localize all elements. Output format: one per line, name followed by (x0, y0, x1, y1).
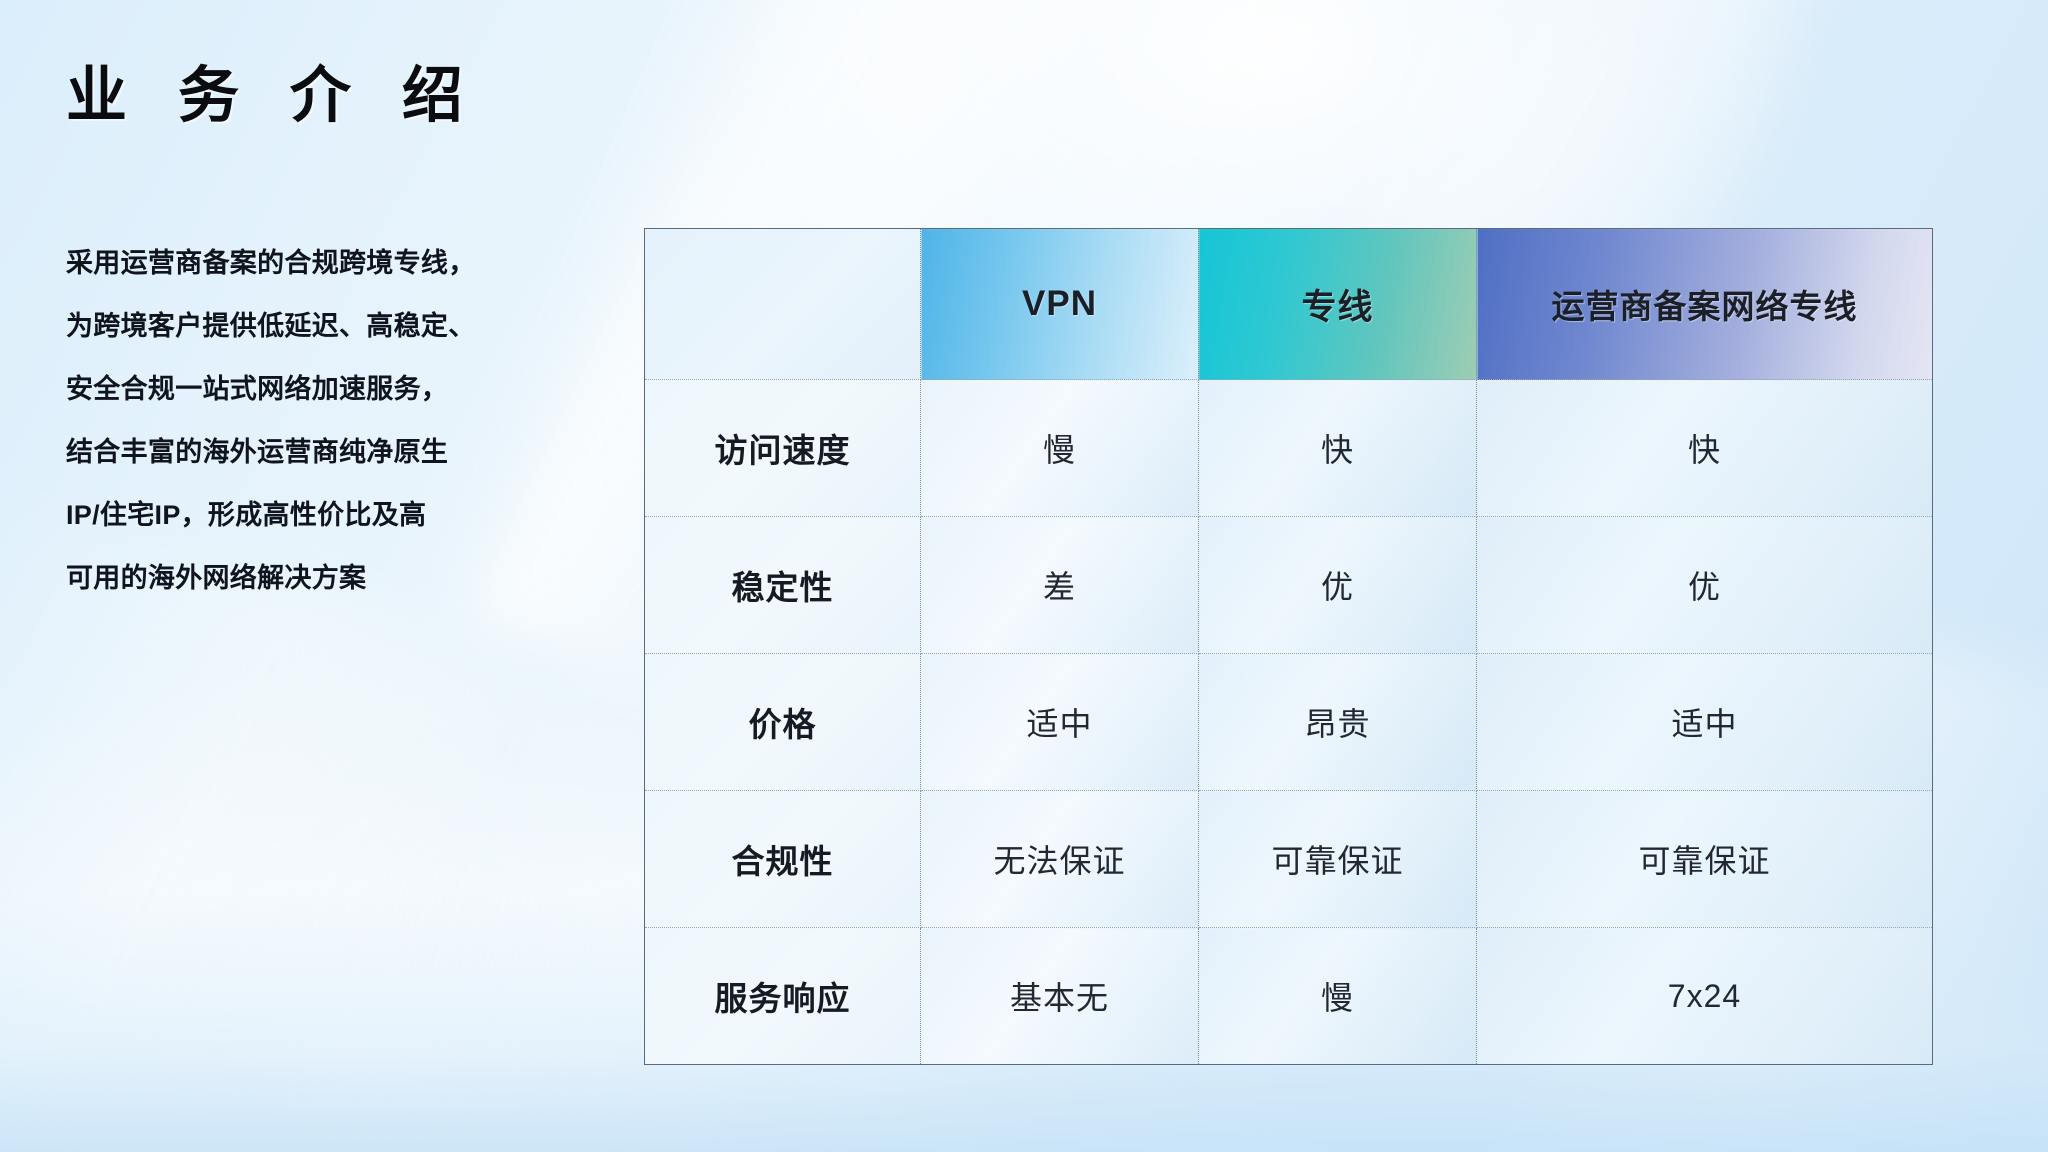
table-row: 访问速度 慢 快 快 (645, 380, 1933, 517)
cell-carrier-filed-line: 优 (1477, 517, 1933, 654)
cell-dedicated-line: 可靠保证 (1199, 791, 1477, 928)
row-label: 价格 (645, 654, 921, 791)
table-header-dedicated-line-label: 专线 (1301, 288, 1373, 327)
cell-dedicated-line: 慢 (1199, 928, 1477, 1065)
row-label: 访问速度 (645, 380, 921, 517)
table-header-blank (645, 229, 921, 380)
row-label: 合规性 (645, 791, 921, 928)
table-header-dedicated-line: 专线 (1199, 229, 1477, 380)
cell-vpn: 基本无 (921, 928, 1199, 1065)
page-title: 业 务 介 绍 (66, 60, 480, 130)
table-row: 合规性 无法保证 可靠保证 可靠保证 (645, 791, 1933, 928)
cell-carrier-filed-line: 适中 (1477, 654, 1933, 791)
table-row: 稳定性 差 优 优 (645, 517, 1933, 654)
table-row: 服务响应 基本无 慢 7x24 (645, 928, 1933, 1065)
cell-vpn: 适中 (921, 654, 1199, 791)
comparison-table: VPN 专线 运营商备案网络专线 访问速度 慢 快 快 稳定性 差 优 (644, 228, 1933, 1065)
row-label: 服务响应 (645, 928, 921, 1065)
table-header-vpn-label: VPN (1022, 284, 1097, 323)
intro-line: 采用运营商备案的合规跨境专线， (66, 232, 626, 295)
table-row: 价格 适中 昂贵 适中 (645, 654, 1933, 791)
cell-carrier-filed-line: 7x24 (1477, 928, 1933, 1065)
cell-dedicated-line: 优 (1199, 517, 1477, 654)
slide-root: 业 务 介 绍 采用运营商备案的合规跨境专线， 为跨境客户提供低延迟、高稳定、 … (0, 0, 2048, 1152)
cell-carrier-filed-line: 可靠保证 (1477, 791, 1933, 928)
table-header-carrier-filed-line-label: 运营商备案网络专线 (1552, 288, 1858, 325)
row-label: 稳定性 (645, 517, 921, 654)
table-header-row: VPN 专线 运营商备案网络专线 (645, 229, 1933, 380)
cell-dedicated-line: 快 (1199, 380, 1477, 517)
intro-line: 可用的海外网络解决方案 (66, 547, 626, 610)
intro-paragraph: 采用运营商备案的合规跨境专线， 为跨境客户提供低延迟、高稳定、 安全合规一站式网… (66, 232, 626, 610)
cell-carrier-filed-line: 快 (1477, 380, 1933, 517)
cell-dedicated-line: 昂贵 (1199, 654, 1477, 791)
intro-line: 为跨境客户提供低延迟、高稳定、 (66, 295, 626, 358)
cell-vpn: 无法保证 (921, 791, 1199, 928)
intro-line: 结合丰富的海外运营商纯净原生 (66, 421, 626, 484)
intro-line: 安全合规一站式网络加速服务， (66, 358, 626, 421)
intro-line: IP/住宅IP，形成高性价比及高 (66, 484, 626, 547)
cell-vpn: 慢 (921, 380, 1199, 517)
table-header-vpn: VPN (921, 229, 1199, 380)
cell-vpn: 差 (921, 517, 1199, 654)
table-header-carrier-filed-line: 运营商备案网络专线 (1477, 229, 1933, 380)
